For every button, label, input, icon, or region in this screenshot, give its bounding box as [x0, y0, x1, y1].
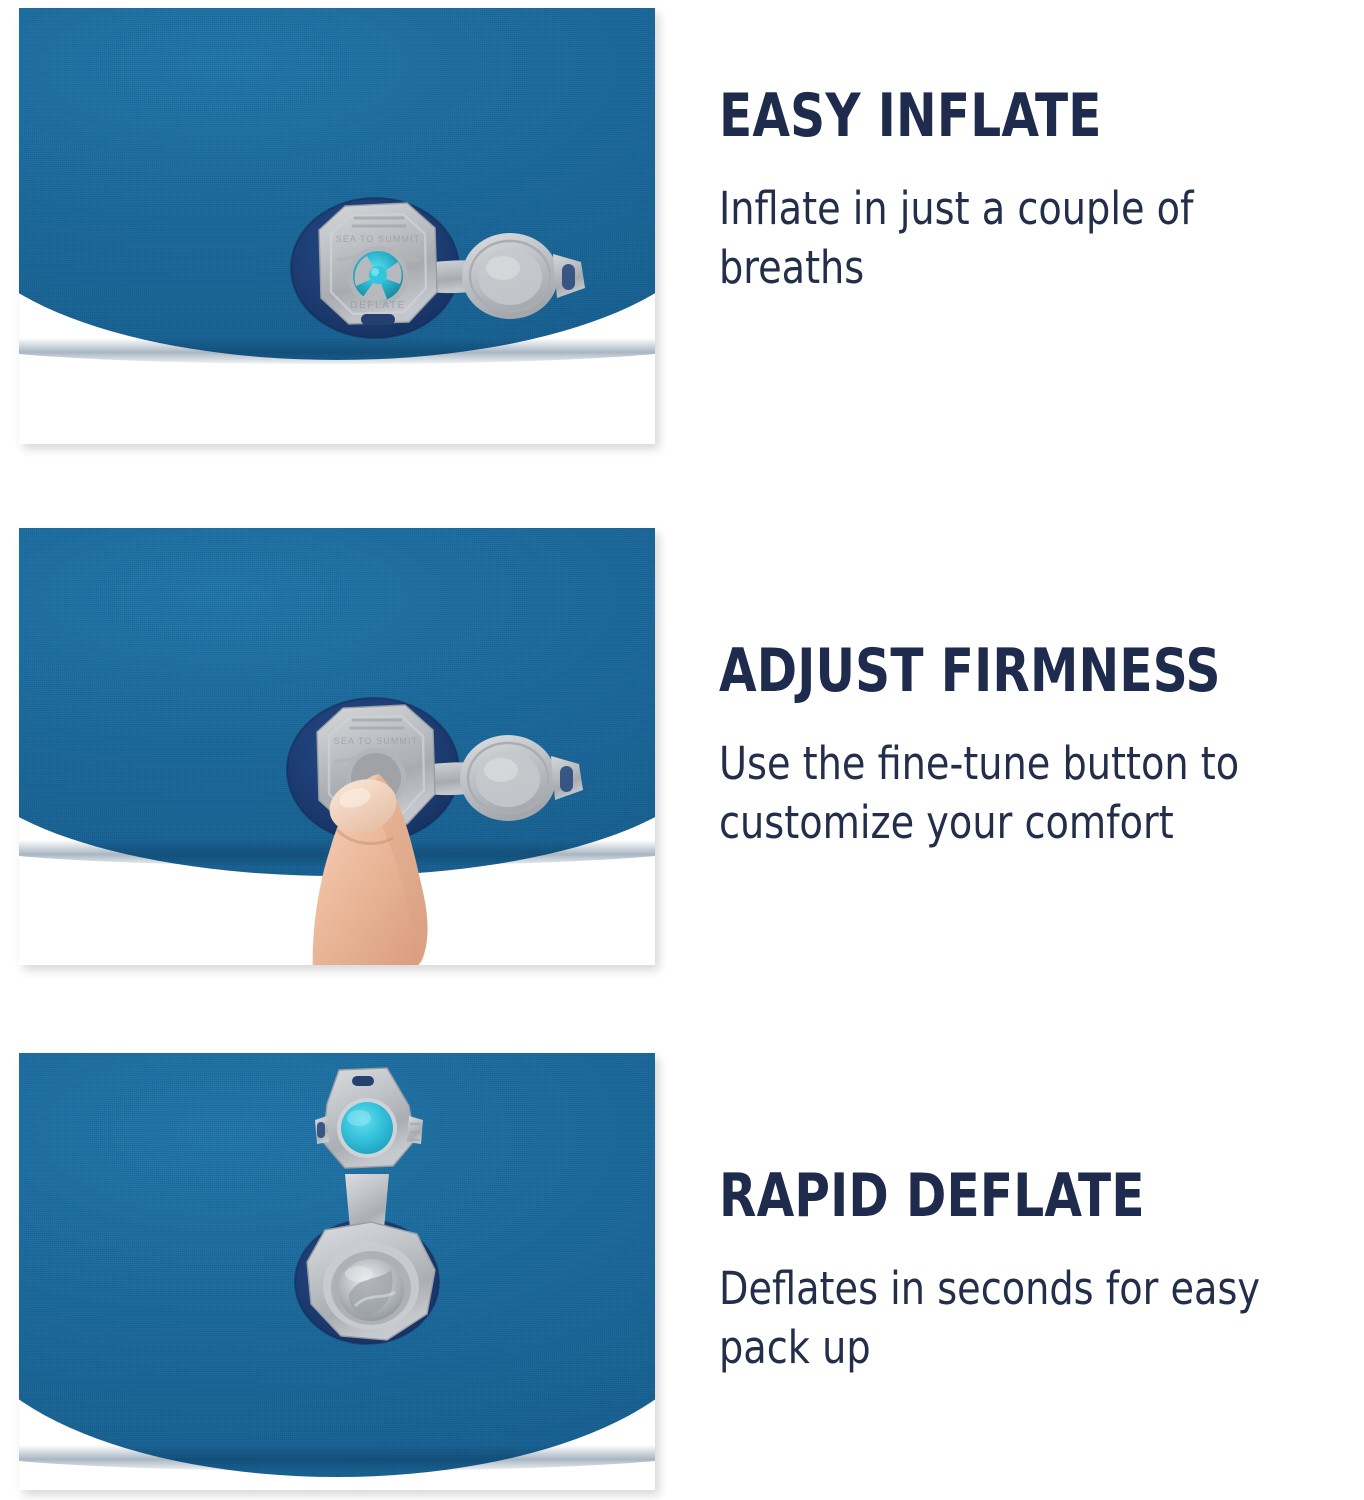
product-photo-adjust-firmness: SEA TO SUMMIT: [19, 528, 655, 965]
valve-tab-slot: [361, 314, 395, 325]
valve-illustration-deflate: [275, 1054, 465, 1364]
valve-illustration-inflate: SEA TO SUMMIT: [257, 176, 587, 356]
valve-illustration-firmness: SEA TO SUMMIT: [251, 678, 591, 965]
valve-assembly-deflate: [275, 1054, 465, 1364]
feature-text-easy-inflate: EASY INFLATE Inflate in just a couple of…: [655, 8, 1364, 522]
feature-body: Deflates in seconds for easy pack up: [719, 1260, 1323, 1377]
feature-text-adjust-firmness: ADJUST FIRMNESS Use the fine-tune button…: [655, 528, 1364, 965]
valve-assembly-inflate: SEA TO SUMMIT: [257, 176, 587, 356]
valve-deflate-emboss: DEFLATE: [350, 300, 405, 311]
product-photo-rapid-deflate: [19, 1053, 655, 1490]
feature-headline: EASY INFLATE: [719, 86, 1294, 146]
valve-brand-emboss: SEA TO SUMMIT: [334, 736, 418, 746]
valve-brand-emboss: SEA TO SUMMIT: [336, 234, 420, 244]
feature-body: Use the fine-tune button to customize yo…: [719, 735, 1323, 852]
valve-cap-tab-hole: [560, 766, 573, 792]
valve-assembly-firmness: SEA TO SUMMIT: [251, 678, 591, 965]
valve-cap-hole: [352, 1076, 374, 1086]
feature-text-rapid-deflate: RAPID DEFLATE Deflates in seconds for ea…: [655, 1053, 1364, 1490]
infographic-sheet: SEA TO SUMMIT: [0, 0, 1364, 1500]
valve-deflate-port-cyan[interactable]: [341, 1102, 393, 1154]
feature-headline: ADJUST FIRMNESS: [719, 641, 1294, 701]
feature-headline: RAPID DEFLATE: [719, 1166, 1294, 1226]
feature-row-rapid-deflate: RAPID DEFLATE Deflates in seconds for ea…: [0, 1053, 1364, 1490]
feature-body: Inflate in just a couple of breaths: [719, 180, 1323, 297]
feature-row-easy-inflate: SEA TO SUMMIT: [0, 8, 1364, 444]
valve-centre-button[interactable]: [369, 266, 387, 284]
valve-cap-tab-hole: [562, 264, 575, 290]
feature-row-adjust-firmness: SEA TO SUMMIT: [0, 528, 1364, 965]
product-photo-easy-inflate: SEA TO SUMMIT: [19, 8, 655, 444]
